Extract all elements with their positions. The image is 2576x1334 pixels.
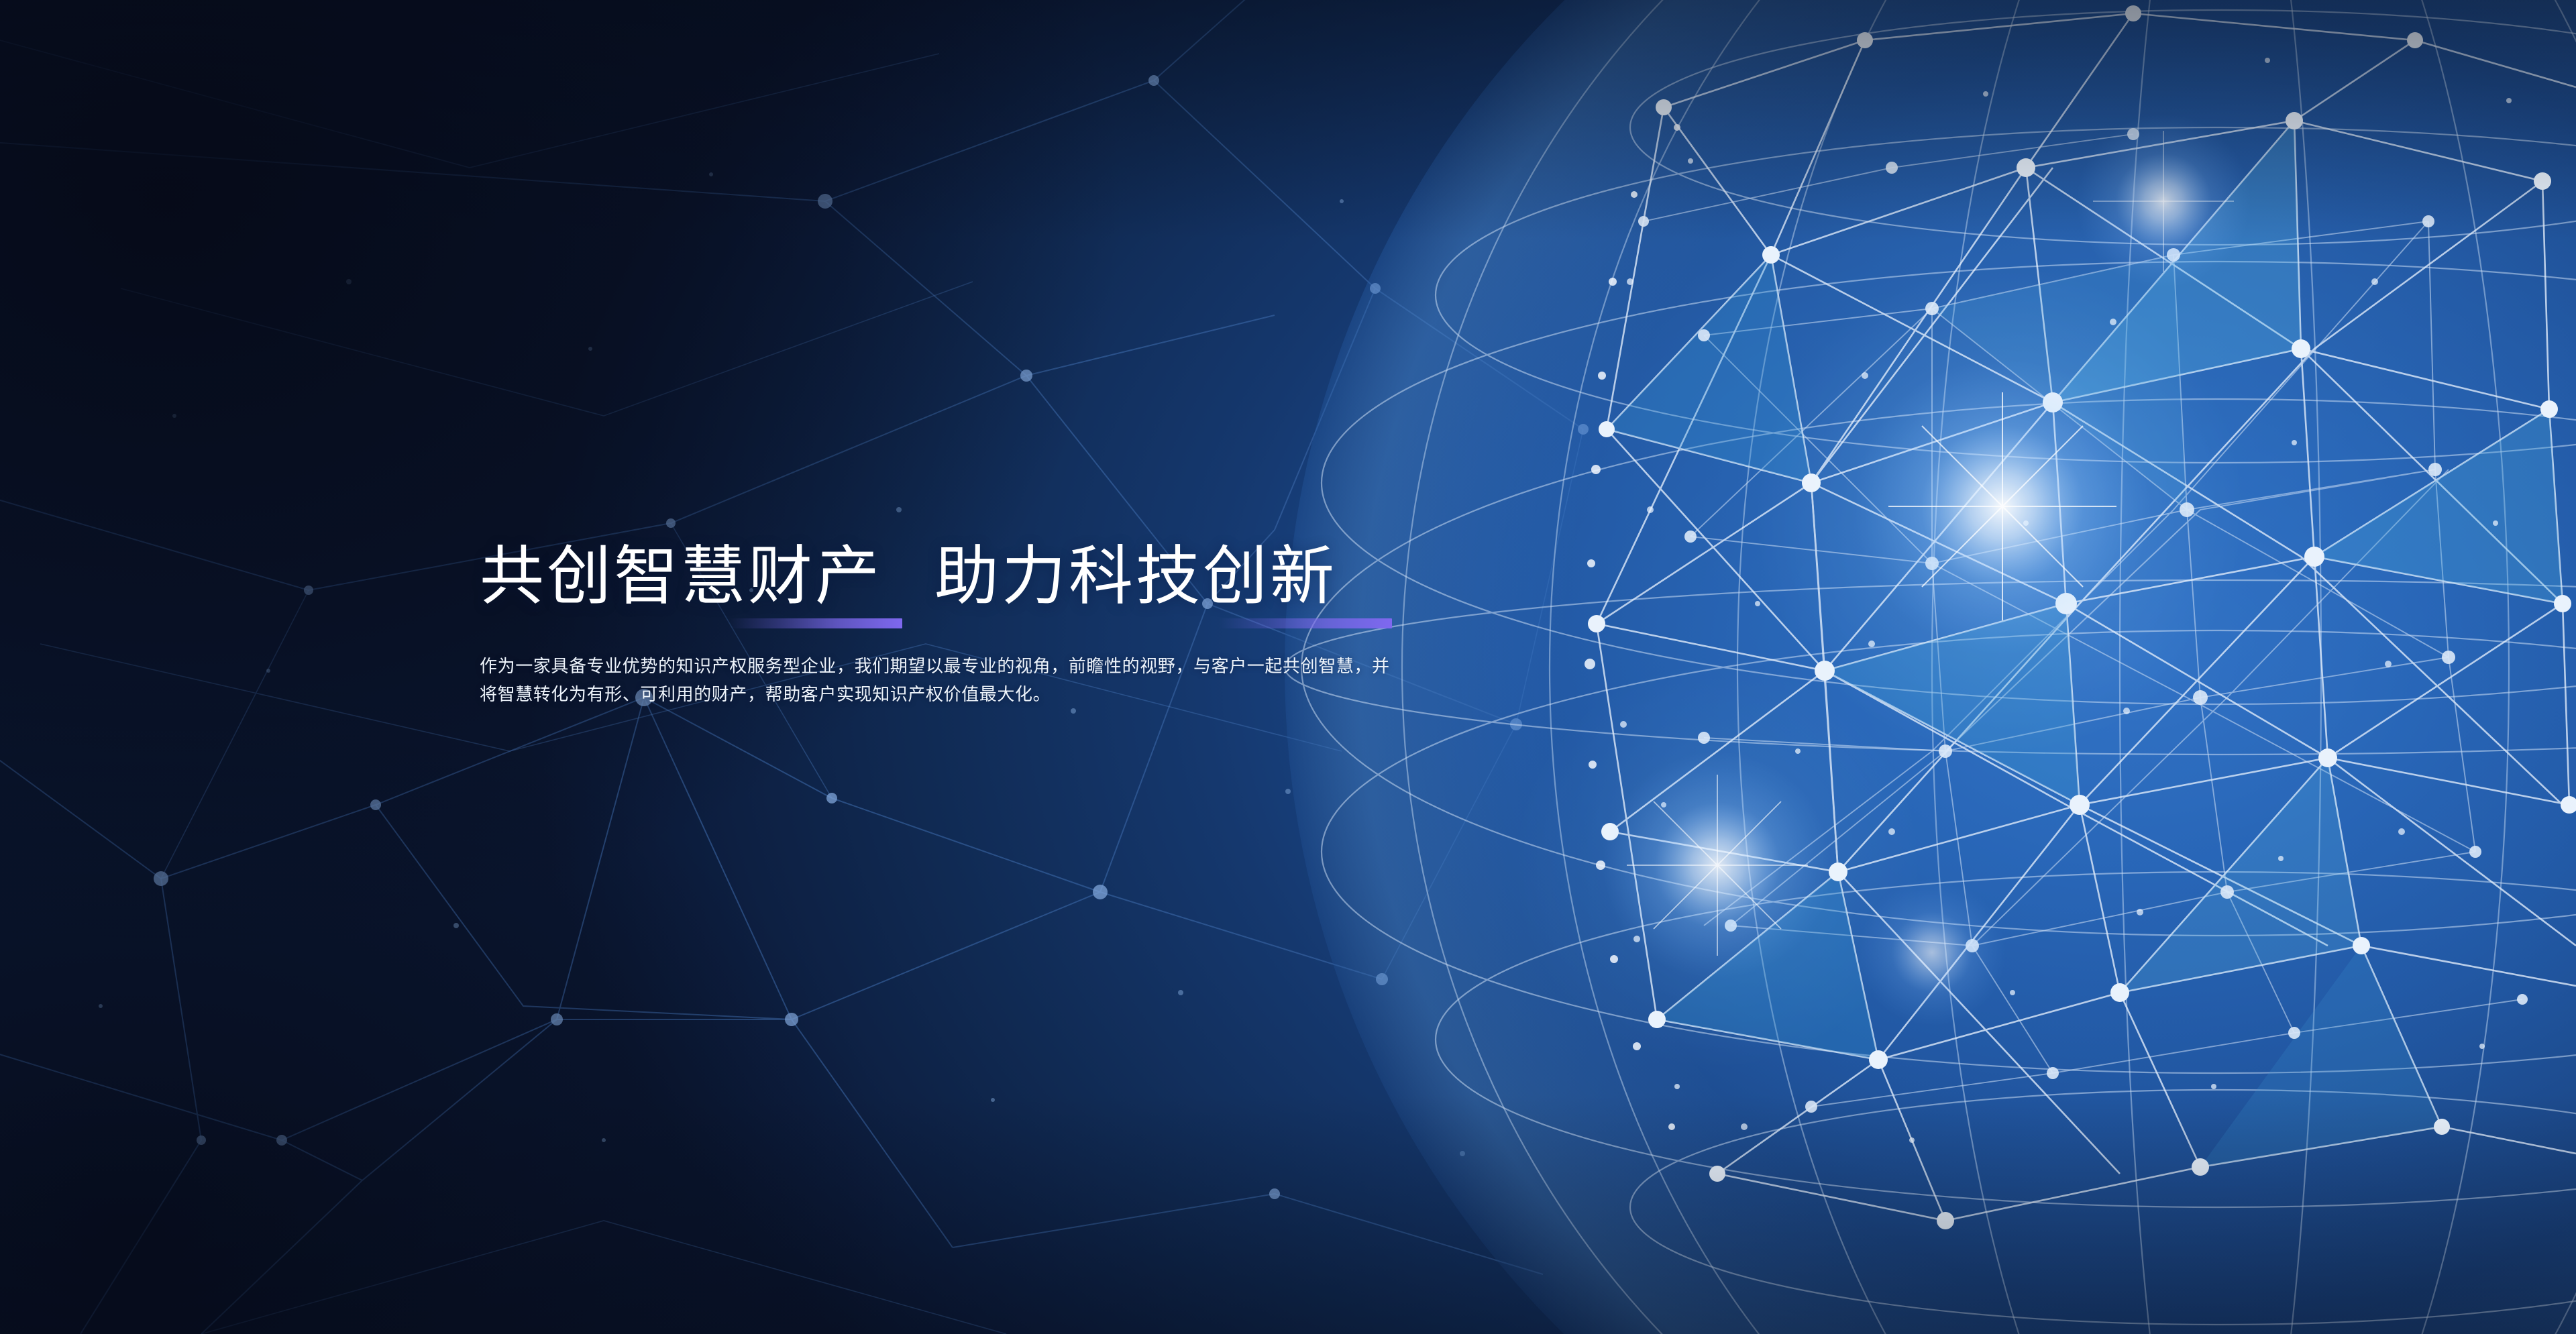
- hero-description: 作为一家具备专业优势的知识产权服务型企业，我们期望以最专业的视角，前瞻性的视野，…: [480, 633, 1392, 708]
- hero-banner: 共创智慧财产助力科技创新 作为一家具备专业优势的知识产权服务型企业，我们期望以最…: [0, 0, 2576, 1334]
- page-title: 共创智慧财产助力科技创新: [480, 545, 1432, 609]
- headline-phrase-1: 共创智慧财产: [480, 541, 882, 612]
- accent-bar-group: [480, 609, 1432, 633]
- headline-phrase-2: 助力科技创新: [934, 541, 1337, 612]
- accent-bar-left: [729, 618, 902, 628]
- accent-bar-right: [1219, 618, 1392, 628]
- hero-content: 共创智慧财产助力科技创新 作为一家具备专业优势的知识产权服务型企业，我们期望以最…: [480, 545, 1432, 708]
